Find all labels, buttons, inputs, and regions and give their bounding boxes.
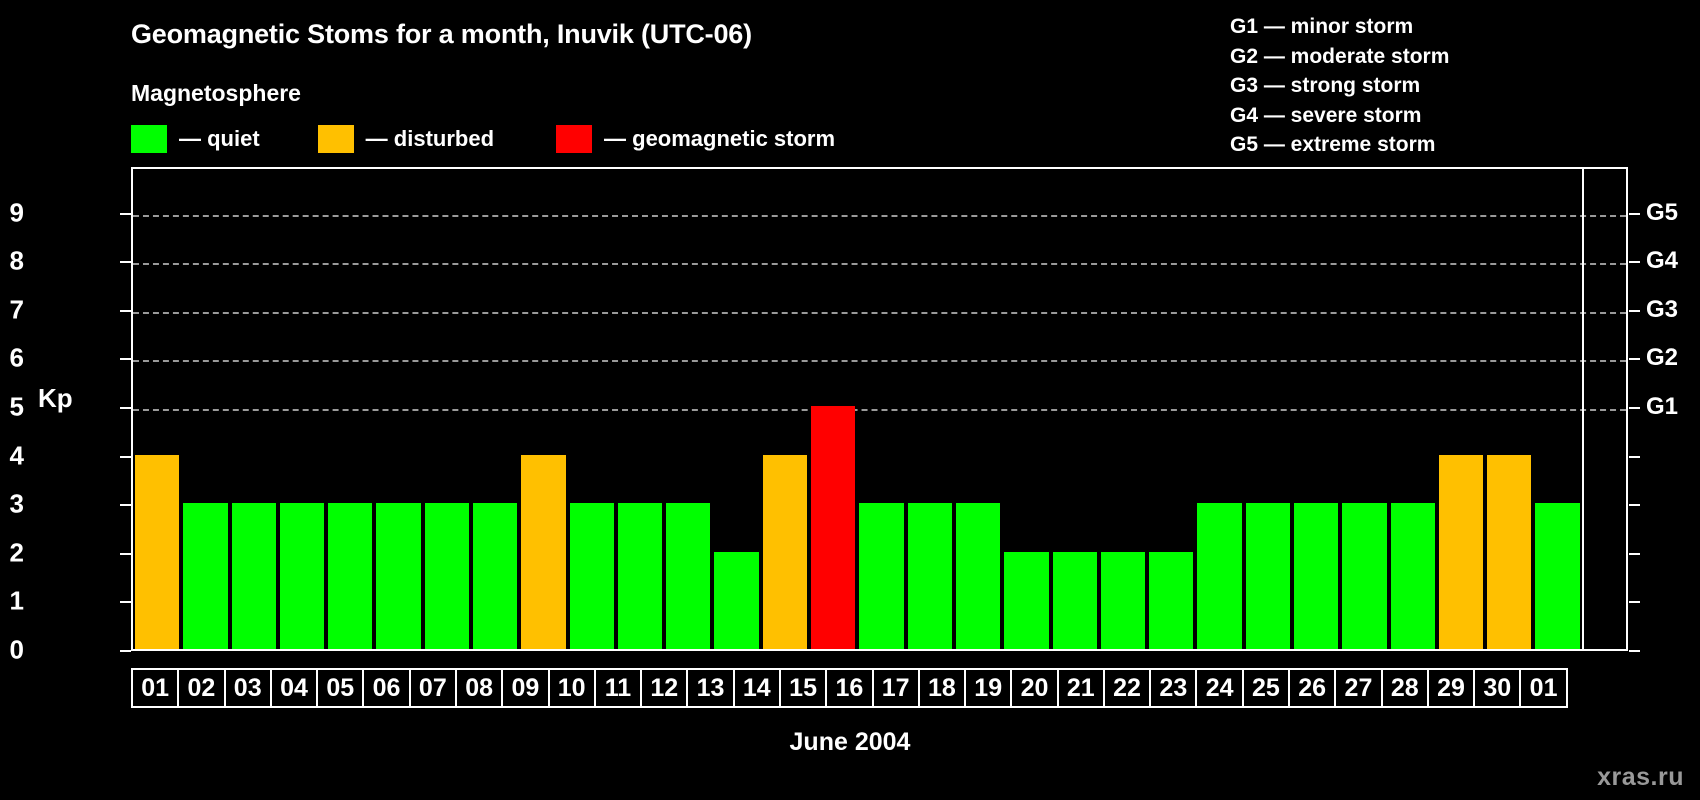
g-scale-line-g3: G3 — strong storm — [1230, 71, 1449, 101]
bar-day-21[interactable] — [1101, 552, 1145, 649]
bar-day-30[interactable] — [1535, 503, 1579, 649]
g-tick-mark-g1 — [1629, 407, 1640, 409]
date-cell-25[interactable]: 25 — [1242, 668, 1290, 708]
bar-day-08[interactable] — [473, 503, 517, 649]
y-tick-mark-1 — [120, 601, 131, 603]
plot-inner — [133, 169, 1626, 649]
date-cell-01-next[interactable]: 01 — [1519, 668, 1567, 708]
date-cell-22[interactable]: 22 — [1103, 668, 1151, 708]
y-tick-label-0: 0 — [0, 635, 24, 666]
bar-day-15[interactable] — [811, 406, 855, 649]
date-cell-17[interactable]: 17 — [872, 668, 920, 708]
x-axis-title: June 2004 — [0, 728, 1700, 757]
bar-day-17[interactable] — [908, 503, 952, 649]
date-cell-13[interactable]: 13 — [686, 668, 734, 708]
legend-item-storm: — geomagnetic storm — [556, 125, 835, 153]
trailing-column-separator — [1582, 169, 1584, 649]
bar-day-24[interactable] — [1246, 503, 1290, 649]
y-tick-mark-0 — [120, 650, 131, 652]
g-scale-line-g4: G4 — severe storm — [1230, 101, 1449, 131]
g-tick-mark-g4 — [1629, 261, 1640, 263]
g-minor-tick-kp-4 — [1629, 456, 1640, 458]
date-cell-24[interactable]: 24 — [1195, 668, 1243, 708]
bar-day-29[interactable] — [1487, 455, 1531, 649]
bar-day-04[interactable] — [280, 503, 324, 649]
date-cell-07[interactable]: 07 — [409, 668, 457, 708]
g-scale-line-g2: G2 — moderate storm — [1230, 42, 1449, 72]
legend-label-storm: — geomagnetic storm — [604, 126, 835, 152]
g-tick-label-g5: G5 — [1646, 199, 1678, 227]
y-tick-mark-6 — [120, 358, 131, 360]
date-cell-19[interactable]: 19 — [964, 668, 1012, 708]
date-cell-10[interactable]: 10 — [548, 668, 596, 708]
g-scale-legend: G1 — minor storm G2 — moderate storm G3 … — [1230, 12, 1449, 160]
g-tick-label-g3: G3 — [1646, 296, 1678, 324]
legend: — quiet — disturbed — geomagnetic storm — [131, 124, 835, 154]
g-minor-tick-kp-2 — [1629, 553, 1640, 555]
bar-day-01[interactable] — [135, 455, 179, 649]
date-cell-28[interactable]: 28 — [1381, 668, 1429, 708]
y-tick-label-8: 8 — [0, 246, 24, 277]
y-tick-mark-4 — [120, 456, 131, 458]
date-cell-23[interactable]: 23 — [1149, 668, 1197, 708]
y-tick-mark-8 — [120, 261, 131, 263]
g-tick-label-g1: G1 — [1646, 393, 1678, 421]
bar-day-02[interactable] — [183, 503, 227, 649]
bar-day-28[interactable] — [1439, 455, 1483, 649]
bar-day-05[interactable] — [328, 503, 372, 649]
bar-day-25[interactable] — [1294, 503, 1338, 649]
legend-item-quiet: — quiet — [131, 125, 260, 153]
bar-day-19[interactable] — [1004, 552, 1048, 649]
x-axis-date-labels: 0102030405060708091011121314151617181920… — [131, 668, 1566, 708]
date-cell-14[interactable]: 14 — [733, 668, 781, 708]
bars-layer — [133, 169, 1626, 649]
page-title: Geomagnetic Stoms for a month, Inuvik (U… — [131, 19, 752, 50]
date-cell-03[interactable]: 03 — [224, 668, 272, 708]
bar-day-07[interactable] — [425, 503, 469, 649]
y-tick-mark-2 — [120, 553, 131, 555]
date-cell-04[interactable]: 04 — [270, 668, 318, 708]
date-cell-18[interactable]: 18 — [918, 668, 966, 708]
bar-day-20[interactable] — [1053, 552, 1097, 649]
orange-swatch-icon — [318, 125, 354, 153]
legend-item-disturbed: — disturbed — [318, 125, 494, 153]
y-tick-label-6: 6 — [0, 343, 24, 374]
date-cell-12[interactable]: 12 — [640, 668, 688, 708]
g-minor-tick-kp-3 — [1629, 504, 1640, 506]
date-cell-02[interactable]: 02 — [177, 668, 225, 708]
bar-day-26[interactable] — [1342, 503, 1386, 649]
g-tick-mark-g3 — [1629, 310, 1640, 312]
bar-day-14[interactable] — [763, 455, 807, 649]
date-cell-30[interactable]: 30 — [1473, 668, 1521, 708]
g-tick-mark-g2 — [1629, 358, 1640, 360]
red-swatch-icon — [556, 125, 592, 153]
g-scale-line-g5: G5 — extreme storm — [1230, 130, 1449, 160]
bar-day-22[interactable] — [1149, 552, 1193, 649]
legend-heading: Magnetosphere — [131, 80, 301, 107]
y-tick-label-9: 9 — [0, 197, 24, 228]
y-tick-label-2: 2 — [0, 537, 24, 568]
g-tick-label-g4: G4 — [1646, 247, 1678, 275]
date-cell-27[interactable]: 27 — [1334, 668, 1382, 708]
y-tick-label-3: 3 — [0, 489, 24, 520]
y-tick-mark-7 — [120, 310, 131, 312]
g-tick-label-g2: G2 — [1646, 344, 1678, 372]
bar-day-16[interactable] — [859, 503, 903, 649]
y-tick-mark-3 — [120, 504, 131, 506]
bar-day-10[interactable] — [570, 503, 614, 649]
green-swatch-icon — [131, 125, 167, 153]
watermark: xras.ru — [1597, 763, 1684, 792]
bar-day-27[interactable] — [1391, 503, 1435, 649]
g-minor-tick-kp-1 — [1629, 601, 1640, 603]
bar-day-18[interactable] — [956, 503, 1000, 649]
y-tick-mark-9 — [120, 213, 131, 215]
bar-day-11[interactable] — [618, 503, 662, 649]
bar-day-06[interactable] — [376, 503, 420, 649]
date-cell-15[interactable]: 15 — [779, 668, 827, 708]
bar-day-23[interactable] — [1197, 503, 1241, 649]
date-cell-11[interactable]: 11 — [594, 668, 642, 708]
g-scale-line-g1: G1 — minor storm — [1230, 12, 1449, 42]
plot-area — [131, 167, 1628, 651]
bar-day-13[interactable] — [714, 552, 758, 649]
y-tick-label-5: 5 — [0, 392, 24, 423]
bar-day-03[interactable] — [232, 503, 276, 649]
g-tick-mark-g5 — [1629, 213, 1640, 215]
g-minor-tick-kp-0 — [1629, 650, 1640, 652]
y-tick-label-1: 1 — [0, 586, 24, 617]
y-axis-title: Kp — [38, 383, 73, 414]
y-tick-label-7: 7 — [0, 294, 24, 325]
y-tick-mark-5 — [120, 407, 131, 409]
date-cell-06[interactable]: 06 — [362, 668, 410, 708]
legend-label-disturbed: — disturbed — [366, 126, 494, 152]
date-cell-20[interactable]: 20 — [1010, 668, 1058, 708]
y-tick-label-4: 4 — [0, 440, 24, 471]
date-cell-01[interactable]: 01 — [131, 668, 179, 708]
date-cell-09[interactable]: 09 — [501, 668, 549, 708]
date-cell-21[interactable]: 21 — [1057, 668, 1105, 708]
legend-label-quiet: — quiet — [179, 126, 260, 152]
date-cell-08[interactable]: 08 — [455, 668, 503, 708]
bar-day-12[interactable] — [666, 503, 710, 649]
date-cell-05[interactable]: 05 — [316, 668, 364, 708]
date-cell-29[interactable]: 29 — [1427, 668, 1475, 708]
date-cell-16[interactable]: 16 — [825, 668, 873, 708]
date-cell-26[interactable]: 26 — [1288, 668, 1336, 708]
bar-day-09[interactable] — [521, 455, 565, 649]
